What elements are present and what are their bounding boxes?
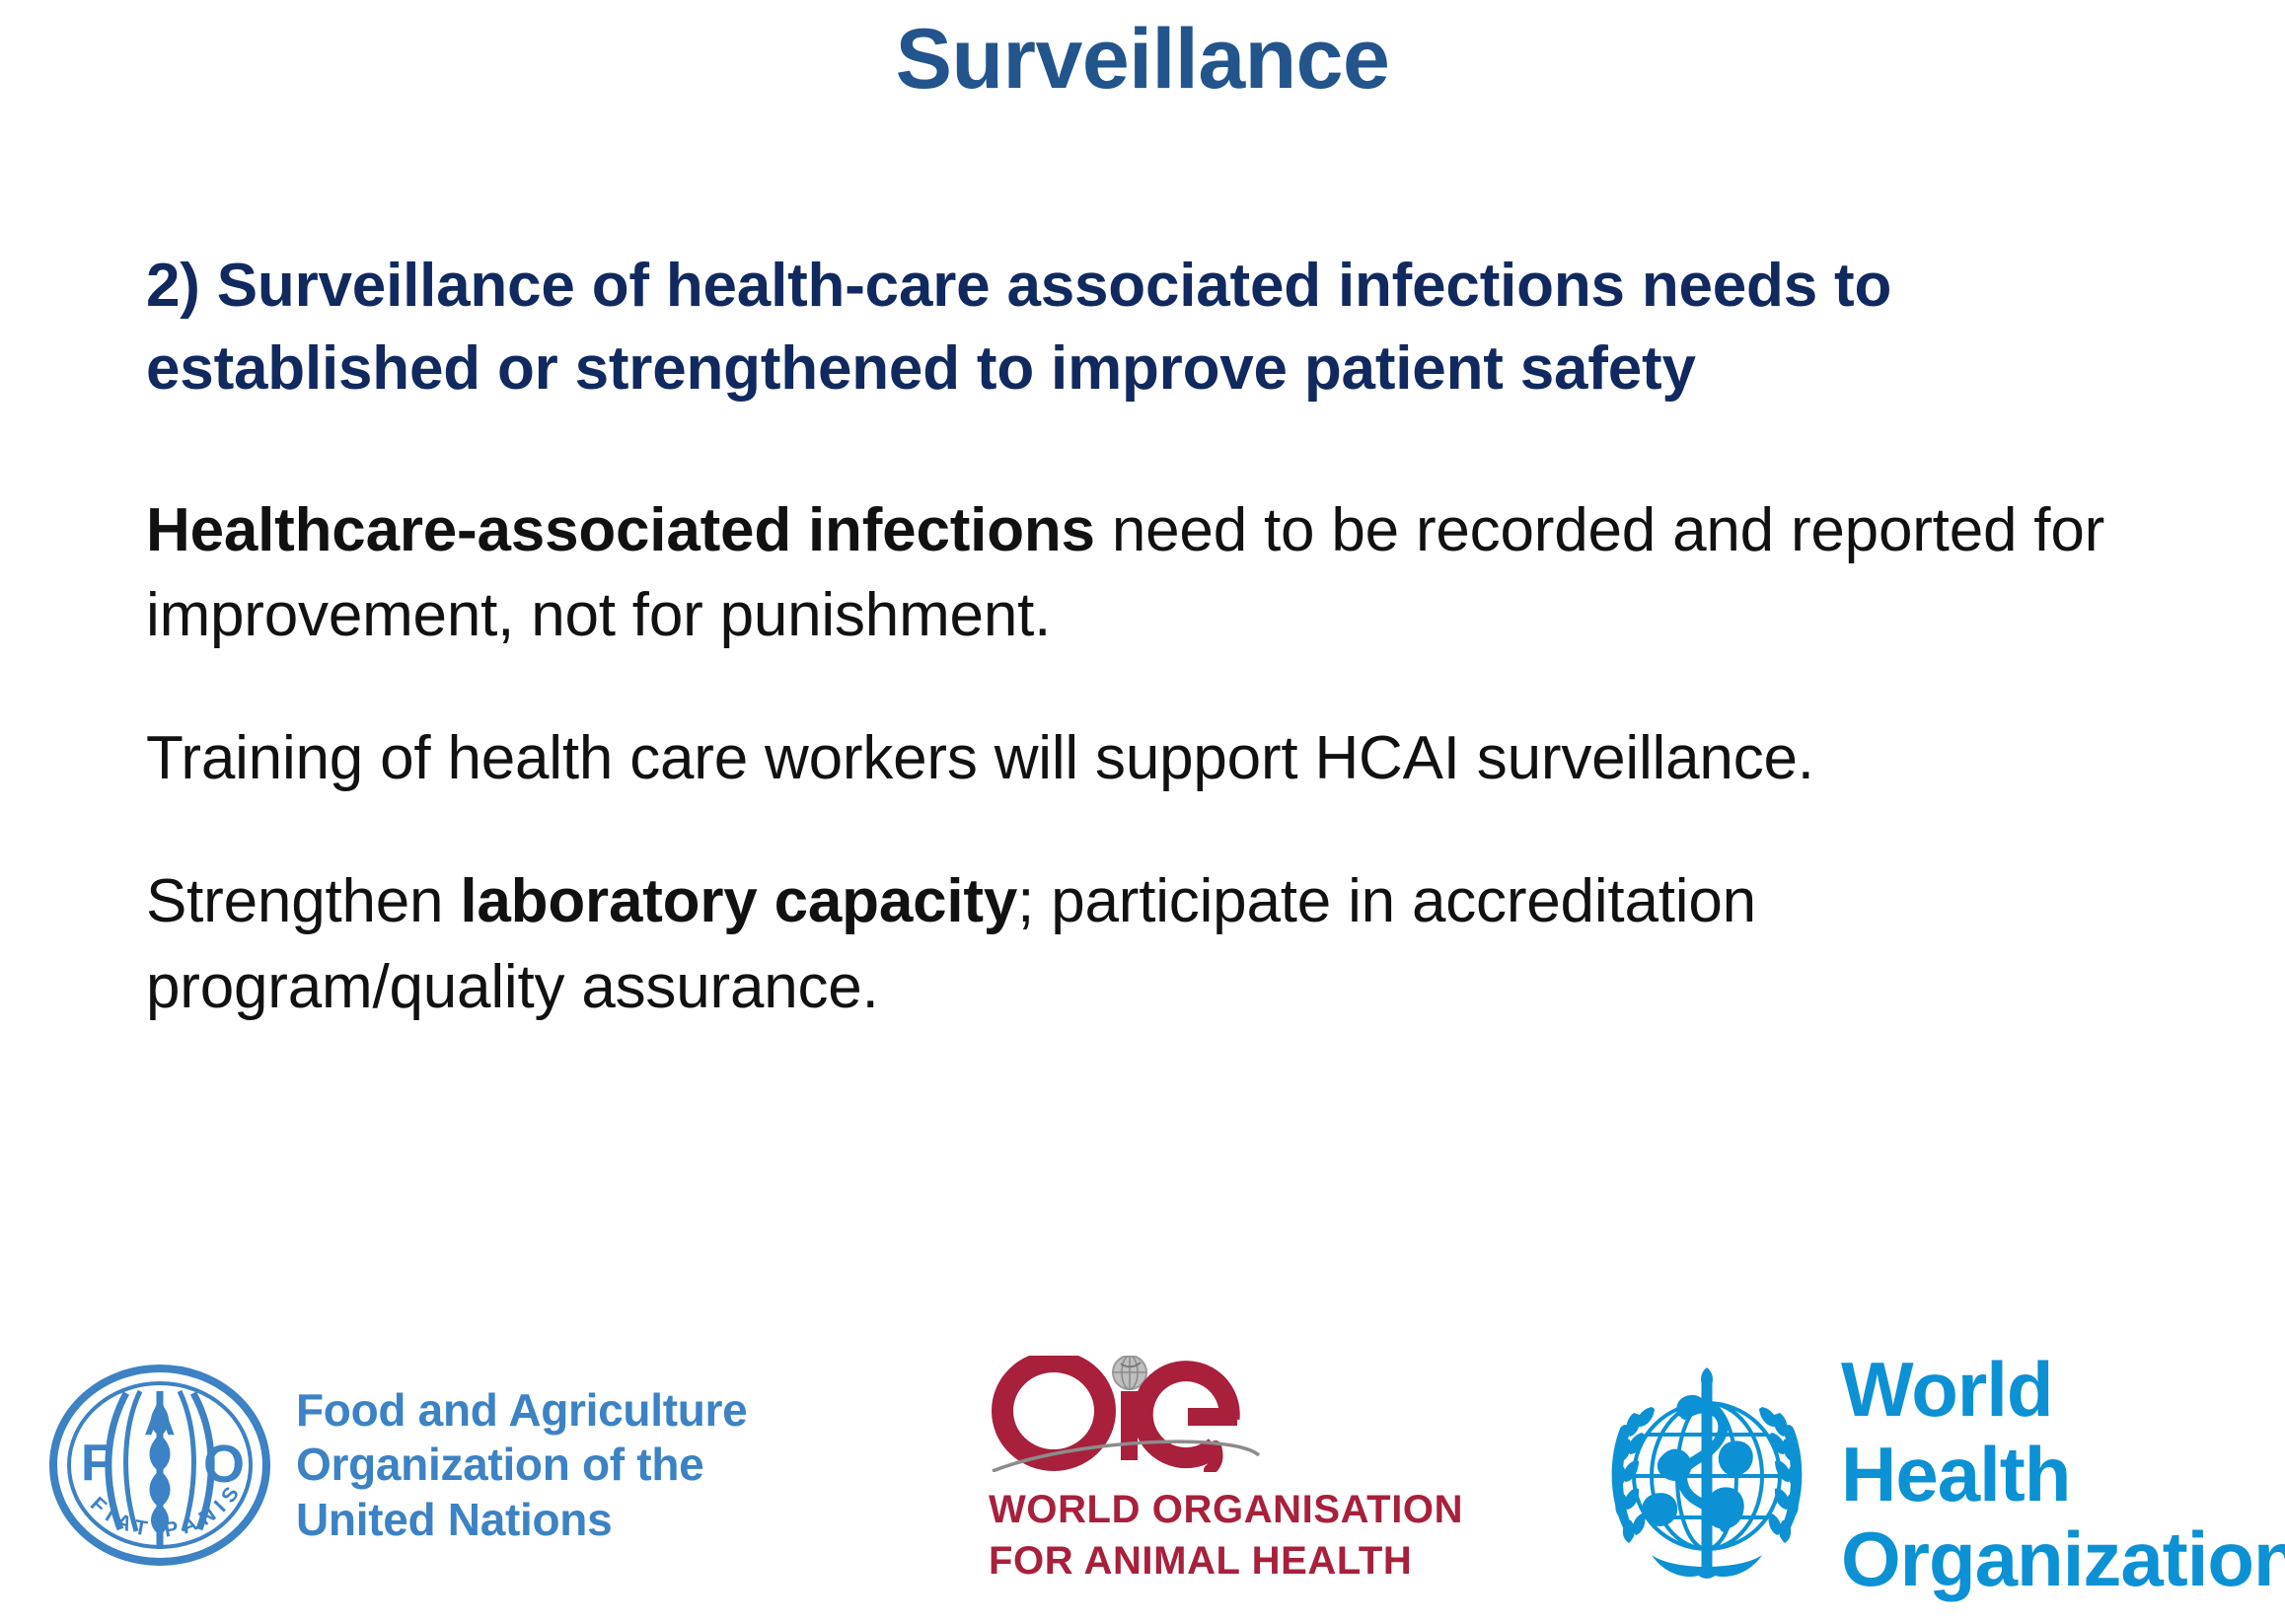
headline-paragraph: 2) Surveillance of health-care associate… <box>146 245 2149 411</box>
logo-fao: F A O FIAT PANIS Food and Agriculture Or… <box>45 1364 747 1567</box>
page-title: Surveillance <box>0 14 2285 106</box>
oie-wordmark-icon <box>987 1356 1381 1472</box>
logo-who-name: World Health Organization <box>1841 1348 2285 1601</box>
fao-emblem-icon: F A O FIAT PANIS <box>45 1364 274 1567</box>
paragraph-training: Training of health care workers will sup… <box>146 716 2149 802</box>
paragraph-hcai-bold-lead: Healthcare-associated infections <box>146 496 1095 564</box>
paragraph-hcai-recording: Healthcare-associated infections need to… <box>146 488 2149 660</box>
partner-logo-strip: F A O FIAT PANIS Food and Agriculture Or… <box>0 1334 2285 1624</box>
logo-who: World Health Organization <box>1590 1348 2285 1601</box>
svg-text:A: A <box>144 1396 176 1444</box>
paragraph-laboratory: Strengthen laboratory capacity; particip… <box>146 859 2149 1031</box>
paragraph-lab-lead: Strengthen <box>146 867 460 935</box>
logo-oie-name: WORLD ORGANISATION FOR ANIMAL HEALTH <box>989 1484 1463 1587</box>
who-emblem-icon <box>1590 1358 1823 1592</box>
svg-text:F: F <box>81 1435 112 1492</box>
logo-fao-name: Food and Agriculture Organization of the… <box>296 1383 747 1547</box>
logo-oie: WORLD ORGANISATION FOR ANIMAL HEALTH <box>987 1356 1463 1587</box>
paragraph-lab-bold: laboratory capacity <box>460 867 1017 935</box>
slide-body: 2) Surveillance of health-care associate… <box>146 245 2149 1031</box>
